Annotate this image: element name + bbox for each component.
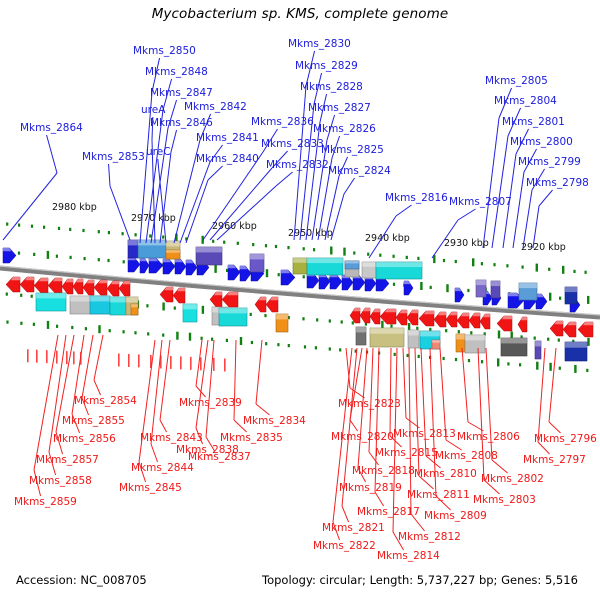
density-tick <box>43 226 45 229</box>
density-tick <box>250 313 252 316</box>
density-tick <box>20 322 22 325</box>
density-tick <box>519 363 521 366</box>
feature-box-gloss <box>408 330 419 335</box>
density-tick <box>536 362 538 370</box>
density-tick <box>394 353 396 356</box>
feature-box-gloss <box>293 258 307 263</box>
density-tick <box>251 341 253 344</box>
scale-tick-label: 2970 kbp <box>131 213 176 224</box>
density-tick <box>265 342 267 345</box>
reverse-gene-arrow[interactable] <box>550 321 563 336</box>
forward-gene-label[interactable]: Mkms_2825 <box>321 144 384 156</box>
reverse-gene-arrow[interactable] <box>563 322 576 337</box>
density-tick <box>277 343 279 346</box>
forward-gene-label[interactable]: ureC <box>146 146 171 158</box>
forward-gene-label[interactable]: Mkms_2846 <box>150 117 213 129</box>
reverse-gene-label[interactable]: Mkms_2817 <box>357 506 420 518</box>
forward-feature-box[interactable] <box>138 240 166 258</box>
gene-arrow-gloss <box>175 259 183 262</box>
density-tick <box>82 229 84 232</box>
forward-gene-arrow[interactable] <box>3 248 16 263</box>
variant-tick <box>66 351 68 364</box>
reverse-gene-label[interactable]: Mkms_2844 <box>131 462 194 474</box>
density-tick <box>549 363 551 371</box>
reverse-gene-arrow[interactable] <box>160 287 173 302</box>
density-tick <box>420 282 422 290</box>
density-tick <box>107 259 109 262</box>
reverse-gene-arrow[interactable] <box>407 310 418 325</box>
reverse-gene-arrow[interactable] <box>578 322 593 337</box>
density-tick <box>98 325 100 333</box>
density-tick <box>573 270 575 273</box>
reverse-gene-label[interactable]: Mkms_2823 <box>338 398 401 410</box>
density-tick <box>146 304 148 307</box>
reverse-feature-box[interactable] <box>432 340 440 349</box>
reverse-leader-line <box>151 444 158 462</box>
reverse-gene-arrow[interactable] <box>107 281 119 296</box>
scale-tick-label: 2980 kbp <box>52 202 97 213</box>
density-tick <box>6 321 8 324</box>
reverse-gene-arrow[interactable] <box>222 292 238 307</box>
reverse-gene-label[interactable]: Mkms_2812 <box>398 531 461 543</box>
forward-gene-label[interactable]: Mkms_2832 <box>266 159 329 171</box>
density-tick <box>189 333 191 341</box>
density-tick <box>416 327 418 330</box>
forward-gene-label[interactable]: Mkms_2824 <box>328 165 391 177</box>
variant-tick <box>138 354 140 367</box>
density-tick <box>341 320 343 323</box>
reverse-gene-arrow[interactable] <box>73 279 83 294</box>
density-tick <box>417 257 419 260</box>
forward-gene-arrow[interactable] <box>228 265 240 280</box>
feature-box-gloss <box>219 308 247 313</box>
density-tick <box>559 297 561 300</box>
density-tick <box>430 286 432 289</box>
reverse-gene-arrow[interactable] <box>497 316 512 331</box>
reverse-gene-label[interactable]: Mkms_2815 <box>375 447 438 459</box>
forward-gene-arrow[interactable] <box>455 288 464 302</box>
density-tick <box>278 273 280 276</box>
reverse-gene-label[interactable]: Mkms_2859 <box>14 496 77 508</box>
reverse-leader-line <box>390 348 391 436</box>
density-tick <box>339 348 341 351</box>
forward-leader-line <box>523 190 532 248</box>
density-tick <box>352 321 354 324</box>
density-tick <box>443 259 445 262</box>
variant-tick <box>224 358 226 371</box>
reverse-feature-box[interactable] <box>36 293 66 311</box>
density-tick <box>18 252 20 255</box>
reverse-leader-line <box>256 340 262 404</box>
reverse-gene-label[interactable]: Mkms_2797 <box>523 454 586 466</box>
reverse-gene-label[interactable]: Mkms_2819 <box>339 482 402 494</box>
density-tick <box>214 265 216 273</box>
reverse-leader-line <box>82 335 93 398</box>
feature-box-gloss <box>491 281 500 286</box>
gene-arrow-gloss <box>461 313 469 316</box>
reverse-feature-box[interactable] <box>535 341 541 359</box>
gene-arrow-gloss <box>438 312 446 315</box>
reverse-gene-label[interactable]: Mkms_2822 <box>313 540 376 552</box>
reverse-gene-arrow[interactable] <box>255 297 266 312</box>
reverse-gene-label[interactable]: Mkms_2810 <box>414 468 477 480</box>
gene-arrow-gloss <box>240 266 248 269</box>
density-tick <box>586 369 588 372</box>
forward-gene-label[interactable]: Mkms_2828 <box>300 81 363 93</box>
reverse-gene-arrow[interactable] <box>350 308 360 323</box>
forward-leader-line <box>483 118 499 248</box>
gene-arrow-gloss <box>186 260 194 263</box>
forward-gene-arrow[interactable] <box>404 281 413 295</box>
density-tick <box>84 257 86 260</box>
density-tick <box>315 346 317 349</box>
density-tick <box>548 268 550 271</box>
genome-diagram: 2980 kbp2970 kbp2960 kbp2950 kbp2940 kbp… <box>0 0 600 600</box>
reverse-feature-box[interactable] <box>131 304 138 315</box>
forward-feature-box[interactable] <box>196 247 222 265</box>
reverse-gene-arrow[interactable] <box>62 279 73 294</box>
reverse-gene-label[interactable]: Mkms_2803 <box>473 494 536 506</box>
reverse-feature-box[interactable] <box>219 308 247 326</box>
forward-feature-box[interactable] <box>376 262 422 279</box>
forward-feature-box[interactable] <box>362 262 376 278</box>
density-tick <box>367 253 369 256</box>
reverse-gene-arrow[interactable] <box>360 308 370 323</box>
density-tick <box>303 247 305 250</box>
reverse-feature-box[interactable] <box>565 342 587 361</box>
density-tick <box>33 253 35 256</box>
reverse-gene-arrow[interactable] <box>6 277 20 292</box>
reverse-gene-arrow[interactable] <box>83 280 94 295</box>
variant-tick <box>190 357 192 370</box>
reverse-gene-arrow[interactable] <box>210 292 222 307</box>
forward-gene-arrow[interactable] <box>149 258 163 273</box>
forward-leader-line <box>513 172 524 248</box>
forward-gene-label[interactable]: Mkms_2848 <box>145 66 208 78</box>
density-tick <box>458 330 460 333</box>
feature-box-gloss <box>362 262 376 267</box>
forward-feature-box[interactable] <box>565 287 577 304</box>
gene-arrow-gloss <box>353 308 360 311</box>
variant-tick <box>128 354 130 367</box>
reverse-feature-box[interactable] <box>90 296 110 314</box>
forward-gene-label[interactable]: Mkms_2850 <box>133 45 196 57</box>
reverse-gene-arrow[interactable] <box>434 312 446 327</box>
density-tick <box>58 227 60 230</box>
reverse-gene-label[interactable]: Mkms_2837 <box>188 451 251 463</box>
density-tick <box>316 318 318 321</box>
gene-arrow-gloss <box>163 259 171 262</box>
reverse-gene-arrow[interactable] <box>518 317 527 332</box>
gene-arrow-gloss <box>483 314 490 317</box>
reverse-gene-label[interactable]: Mkms_2843 <box>140 432 203 444</box>
forward-gene-label[interactable]: Mkms_2827 <box>308 102 371 114</box>
density-tick <box>549 293 551 301</box>
forward-gene-label[interactable]: Mkms_2804 <box>494 95 557 107</box>
forward-gene-label[interactable]: Mkms_2853 <box>82 151 145 163</box>
density-tick <box>534 337 536 340</box>
gene-arrow-gloss <box>177 288 185 291</box>
density-tick <box>266 269 268 277</box>
density-tick <box>381 321 383 329</box>
density-tick <box>562 266 564 274</box>
feature-box-gloss <box>356 327 366 332</box>
reverse-gene-label[interactable]: Mkms_2854 <box>74 395 137 407</box>
scale-tick-label: 2920 kbp <box>521 242 566 253</box>
reverse-gene-label[interactable]: Mkms_2845 <box>119 482 182 494</box>
reverse-leader-line <box>375 492 384 506</box>
variant-tick <box>27 349 29 362</box>
density-tick <box>407 354 409 357</box>
density-tick <box>240 337 242 345</box>
reverse-feature-box[interactable] <box>456 334 465 352</box>
gene-arrow-gloss <box>270 297 278 300</box>
reverse-gene-arrow[interactable] <box>469 313 480 328</box>
gene-arrow-gloss <box>111 281 119 284</box>
density-tick <box>329 319 331 322</box>
variant-tick <box>118 354 120 367</box>
forward-gene-label[interactable]: Mkms_2833 <box>261 138 324 150</box>
density-tick <box>252 243 254 246</box>
reverse-feature-box[interactable] <box>370 328 404 347</box>
reverse-leader-line <box>492 460 508 473</box>
reverse-gene-label[interactable]: Mkms_2855 <box>62 415 125 427</box>
reverse-gene-label[interactable]: Mkms_2796 <box>534 433 597 445</box>
reverse-leader-line <box>206 340 214 437</box>
density-tick <box>522 266 524 269</box>
reverse-leader-line <box>196 340 208 428</box>
forward-feature-box[interactable] <box>519 283 537 300</box>
forward-gene-label[interactable]: Mkms_2799 <box>518 156 581 168</box>
forward-feature-box[interactable] <box>307 258 343 275</box>
density-tick <box>147 332 149 335</box>
forward-feature-box[interactable] <box>250 254 264 272</box>
forward-leader-line <box>208 166 223 180</box>
density-tick <box>98 230 100 233</box>
forward-leader-line <box>276 172 293 186</box>
reverse-leader-line <box>538 348 545 442</box>
forward-feature-box[interactable] <box>166 250 180 259</box>
reverse-gene-label[interactable]: Mkms_2806 <box>457 431 520 443</box>
forward-gene-arrow[interactable] <box>240 266 251 281</box>
accession-text: Accession: NC_008705 <box>16 573 147 587</box>
reverse-gene-arrow[interactable] <box>266 297 278 312</box>
forward-leader-line <box>110 186 130 240</box>
forward-feature-box[interactable] <box>345 261 359 269</box>
density-tick <box>587 338 589 346</box>
reverse-feature-box[interactable] <box>276 314 288 332</box>
feature-box-gloss <box>276 314 288 319</box>
density-tick <box>162 303 164 311</box>
forward-gene-label[interactable]: Mkms_2798 <box>526 177 589 189</box>
gene-arrow-gloss <box>66 279 74 282</box>
density-tick <box>212 240 214 243</box>
density-tick <box>211 338 213 341</box>
forward-leader-line <box>186 180 208 243</box>
density-tick <box>446 284 448 292</box>
feature-box-gloss <box>166 241 180 246</box>
feature-box-gloss <box>519 283 537 288</box>
density-tick <box>443 357 445 360</box>
forward-feature-box[interactable] <box>491 281 500 298</box>
density-tick <box>288 344 290 347</box>
forward-leader-line <box>109 164 110 186</box>
feature-box-gloss <box>420 331 440 336</box>
reverse-gene-label[interactable]: Mkms_2835 <box>220 432 283 444</box>
forward-gene-arrow[interactable] <box>175 259 186 274</box>
density-tick <box>481 262 483 265</box>
reverse-feature-box[interactable] <box>408 330 419 348</box>
density-tick <box>123 330 125 333</box>
reverse-gene-arrow[interactable] <box>446 312 457 327</box>
reverse-gene-label[interactable]: Mkms_2809 <box>424 510 487 522</box>
forward-leader-line <box>3 173 57 240</box>
reverse-gene-arrow[interactable] <box>119 281 130 296</box>
gene-arrow-gloss <box>363 308 370 311</box>
reverse-gene-label[interactable]: Mkms_2856 <box>53 433 116 445</box>
density-tick <box>445 329 447 332</box>
reverse-gene-arrow[interactable] <box>34 278 48 293</box>
density-tick <box>135 233 137 236</box>
density-tick <box>109 329 111 332</box>
feature-box-gloss <box>465 335 485 340</box>
forward-feature-box[interactable] <box>293 258 307 274</box>
forward-gene-label[interactable]: Mkms_2807 <box>449 196 512 208</box>
forward-gene-arrow[interactable] <box>163 259 175 274</box>
forward-gene-label[interactable]: Mkms_2840 <box>196 153 259 165</box>
density-tick <box>47 321 49 329</box>
density-tick <box>559 367 561 370</box>
forward-gene-label[interactable]: Mkms_2829 <box>295 60 358 72</box>
forward-gene-arrow[interactable] <box>330 274 342 289</box>
feature-box-gloss <box>565 287 577 292</box>
density-tick <box>108 231 110 234</box>
density-tick <box>455 358 457 361</box>
gene-arrow-gloss <box>87 280 95 283</box>
reverse-gene-arrow[interactable] <box>48 278 62 293</box>
forward-gene-label[interactable]: Mkms_2864 <box>20 122 83 134</box>
feature-box-gloss <box>307 258 343 263</box>
reverse-gene-label[interactable]: Mkms_2858 <box>29 475 92 487</box>
reverse-gene-arrow[interactable] <box>370 309 380 324</box>
density-tick <box>330 247 332 255</box>
density-tick <box>275 245 277 248</box>
reverse-leader-line <box>256 404 270 415</box>
feature-box-gloss <box>36 293 66 298</box>
forward-gene-label[interactable]: Mkms_2836 <box>251 116 314 128</box>
reverse-feature-box[interactable] <box>465 335 485 353</box>
reverse-gene-label[interactable]: Mkms_2802 <box>481 473 544 485</box>
scale-tick-label: 2940 kbp <box>365 233 410 244</box>
forward-gene-arrow[interactable] <box>128 257 140 272</box>
reverse-gene-label[interactable]: Mkms_2839 <box>179 397 242 409</box>
density-tick <box>470 331 472 334</box>
genome-map-canvas: Mycobacterium sp. KMS, complete genome 2… <box>0 0 600 600</box>
density-tick <box>174 307 176 310</box>
forward-gene-label[interactable]: ureA <box>141 104 166 116</box>
reverse-leader-line <box>403 348 406 418</box>
reverse-gene-label[interactable]: Mkms_2811 <box>407 489 470 501</box>
variant-tick <box>200 357 202 370</box>
reverse-gene-label[interactable]: Mkms_2814 <box>377 550 440 562</box>
density-tick <box>162 236 164 239</box>
reverse-gene-arrow[interactable] <box>480 314 490 329</box>
forward-gene-label[interactable]: Mkms_2816 <box>385 192 448 204</box>
density-tick <box>47 251 49 259</box>
reverse-gene-label[interactable]: Mkms_2820 <box>331 431 394 443</box>
forward-leader-line <box>344 178 355 194</box>
reverse-gene-arrow[interactable] <box>20 277 34 292</box>
forward-gene-label[interactable]: Mkms_2805 <box>485 75 548 87</box>
reverse-gene-arrow[interactable] <box>419 311 434 326</box>
density-tick <box>134 331 136 334</box>
density-tick <box>223 241 225 244</box>
reverse-gene-label[interactable]: Mkms_2818 <box>352 465 415 477</box>
forward-gene-label[interactable]: Mkms_2841 <box>196 132 259 144</box>
forward-gene-arrow[interactable] <box>319 274 330 289</box>
reverse-gene-arrow[interactable] <box>396 310 407 325</box>
reverse-gene-arrow[interactable] <box>457 313 469 328</box>
reverse-leader-line <box>342 506 349 522</box>
feature-box-gloss <box>138 240 166 245</box>
density-tick <box>70 256 72 259</box>
forward-gene-arrow[interactable] <box>186 260 197 275</box>
reverse-feature-box[interactable] <box>501 338 527 356</box>
density-tick <box>303 275 305 278</box>
feature-box-gloss <box>196 247 222 252</box>
density-tick <box>393 255 395 258</box>
density-tick <box>481 360 483 363</box>
density-tick <box>31 295 33 298</box>
density-tick <box>468 359 470 362</box>
density-tick <box>162 334 164 337</box>
density-tick <box>31 225 33 228</box>
forward-feature-box[interactable] <box>476 280 486 297</box>
forward-gene-arrow[interactable] <box>140 258 149 273</box>
feature-box-gloss <box>432 340 440 343</box>
reverse-gene-label[interactable]: Mkms_2834 <box>243 415 306 427</box>
forward-gene-label[interactable]: Mkms_2842 <box>184 101 247 113</box>
feature-box-gloss <box>183 304 197 309</box>
density-tick <box>18 224 20 227</box>
reverse-gene-label[interactable]: Mkms_2821 <box>322 522 385 534</box>
forward-gene-label[interactable]: Mkms_2830 <box>288 38 351 50</box>
reverse-leader-line <box>160 420 167 432</box>
gene-arrow-gloss <box>411 310 419 313</box>
density-tick <box>6 293 8 296</box>
density-tick <box>497 358 499 366</box>
density-tick <box>265 244 267 247</box>
density-tick <box>393 283 395 286</box>
forward-gene-label[interactable]: Mkms_2801 <box>502 116 565 128</box>
reverse-gene-arrow[interactable] <box>94 280 107 295</box>
reverse-feature-box[interactable] <box>110 297 126 315</box>
forward-gene-label[interactable]: Mkms_2847 <box>150 87 213 99</box>
density-tick <box>98 258 100 261</box>
density-tick <box>69 228 71 231</box>
reverse-leader-line <box>94 380 101 395</box>
forward-gene-label[interactable]: Mkms_2826 <box>313 123 376 135</box>
reverse-gene-label[interactable]: Mkms_2808 <box>435 450 498 462</box>
reverse-gene-arrow[interactable] <box>173 288 185 303</box>
forward-gene-arrow[interactable] <box>536 294 547 309</box>
density-tick <box>237 242 239 245</box>
forward-feature-box[interactable] <box>128 240 138 258</box>
reverse-gene-label[interactable]: Mkms_2857 <box>36 454 99 466</box>
reverse-feature-box[interactable] <box>183 304 197 322</box>
reverse-feature-box[interactable] <box>356 327 366 345</box>
forward-gene-label[interactable]: Mkms_2800 <box>510 136 573 148</box>
